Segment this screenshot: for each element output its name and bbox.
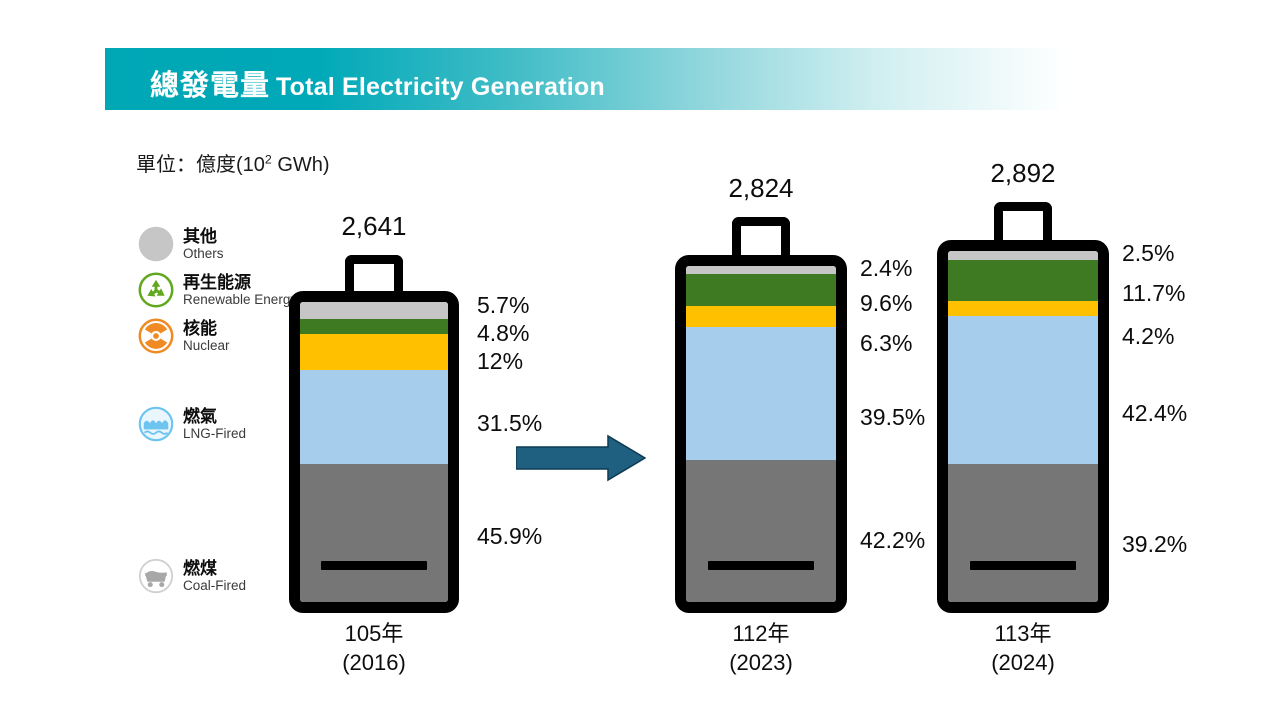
battery-segment-lng — [686, 327, 836, 460]
pct-label-others: 2.4% — [860, 255, 912, 282]
transition-arrow — [516, 434, 646, 487]
battery-x-label-zh: 105年 — [289, 620, 459, 649]
legend-label-zh: 核能 — [183, 319, 230, 338]
legend-item-text: 燃煤Coal-Fired — [183, 558, 246, 594]
battery-cap — [732, 217, 790, 267]
legend-item-text: 再生能源Renewable Energy — [183, 272, 297, 308]
legend-item-text: 其他Others — [183, 226, 224, 262]
battery-segment-renewable — [948, 260, 1098, 301]
legend-item-renewable: 再生能源Renewable Energy — [138, 272, 297, 308]
unit-caption-suffix: GWh) — [272, 154, 330, 176]
legend-label-en: LNG-Fired — [183, 426, 246, 442]
battery-x-label: 105年(2016) — [289, 620, 459, 677]
battery-cap — [994, 202, 1052, 252]
legend-label-zh: 再生能源 — [183, 273, 297, 292]
legend-item-text: 燃氣LNG-Fired — [183, 406, 246, 442]
battery-cap — [345, 255, 403, 303]
legend-label-en: Coal-Fired — [183, 578, 246, 594]
battery-segment-nuclear — [300, 334, 448, 370]
battery-segment-coal — [948, 464, 1098, 602]
battery-x-label-zh: 113年 — [937, 620, 1109, 649]
battery-segment-coal — [686, 460, 836, 602]
gas-flame-water-icon — [138, 406, 174, 442]
legend-item-coal: 燃煤Coal-Fired — [138, 558, 246, 594]
legend-item-lng: 燃氣LNG-Fired — [138, 406, 246, 442]
battery-body — [675, 255, 847, 613]
battery-x-label-zh: 112年 — [675, 620, 847, 649]
slide-canvas: 總發電量Total Electricity Generation 單位：億度(1… — [0, 0, 1280, 720]
page-title-en: Total Electricity Generation — [276, 73, 605, 101]
page-title: 總發電量Total Electricity Generation — [150, 62, 605, 104]
unit-caption: 單位：億度(102 GWh) — [136, 148, 330, 177]
recycle-leaf-icon — [138, 272, 174, 308]
pct-label-nuclear: 6.3% — [860, 330, 912, 357]
battery-segment-coal — [300, 464, 448, 602]
legend-label-en: Renewable Energy — [183, 292, 297, 308]
battery-segment-lng — [948, 316, 1098, 465]
unit-caption-exponent: 2 — [265, 152, 272, 166]
legend-label-zh: 其他 — [183, 227, 224, 246]
pct-label-nuclear: 4.2% — [1122, 323, 1174, 350]
pct-label-renewable: 4.8% — [477, 320, 529, 347]
radiation-icon — [138, 318, 174, 354]
legend-label-en: Nuclear — [183, 338, 230, 354]
pct-label-others: 5.7% — [477, 292, 529, 319]
legend-label-zh: 燃氣 — [183, 407, 246, 426]
battery-segment-others — [686, 266, 836, 274]
pct-label-lng: 31.5% — [477, 410, 542, 437]
battery-x-label-en: (2023) — [675, 649, 847, 678]
pct-label-coal: 45.9% — [477, 523, 542, 550]
battery-total-value: 2,641 — [289, 211, 459, 242]
solid-circle-icon — [138, 226, 174, 262]
pct-label-coal: 42.2% — [860, 527, 925, 554]
pct-label-coal: 39.2% — [1122, 531, 1187, 558]
battery-x-label-en: (2016) — [289, 649, 459, 678]
legend-label-en: Others — [183, 246, 224, 262]
pct-label-others: 2.5% — [1122, 240, 1174, 267]
battery-x-label: 113年(2024) — [937, 620, 1109, 677]
battery-x-label-en: (2024) — [937, 649, 1109, 678]
pct-label-renewable: 9.6% — [860, 290, 912, 317]
battery-segment-renewable — [686, 274, 836, 306]
legend-label-zh: 燃煤 — [183, 559, 246, 578]
battery-segment-others — [948, 251, 1098, 260]
battery-total-value: 2,824 — [675, 173, 847, 204]
pct-label-nuclear: 12% — [477, 348, 523, 375]
battery-body — [937, 240, 1109, 613]
legend-item-nuclear: 核能Nuclear — [138, 318, 230, 354]
transition-arrow-icon — [516, 434, 646, 482]
page-title-zh: 總發電量 — [150, 70, 270, 102]
battery-segment-lng — [300, 370, 448, 465]
battery-segment-nuclear — [686, 306, 836, 327]
battery-minus-terminal-icon — [321, 561, 426, 570]
battery-minus-terminal-icon — [708, 561, 815, 570]
pct-label-lng: 39.5% — [860, 404, 925, 431]
battery-body — [289, 291, 459, 613]
battery-total-value: 2,892 — [937, 158, 1109, 189]
unit-caption-prefix: 單位：億度(10 — [136, 154, 265, 176]
battery-x-label: 112年(2023) — [675, 620, 847, 677]
battery-minus-terminal-icon — [970, 561, 1077, 570]
coal-cart-icon — [138, 558, 174, 594]
legend-item-others: 其他Others — [138, 226, 224, 262]
legend-item-text: 核能Nuclear — [183, 318, 230, 354]
pct-label-lng: 42.4% — [1122, 400, 1187, 427]
battery-segment-renewable — [300, 319, 448, 333]
pct-label-renewable: 11.7% — [1122, 280, 1186, 307]
battery-segment-others — [300, 302, 448, 319]
battery-segment-nuclear — [948, 301, 1098, 316]
